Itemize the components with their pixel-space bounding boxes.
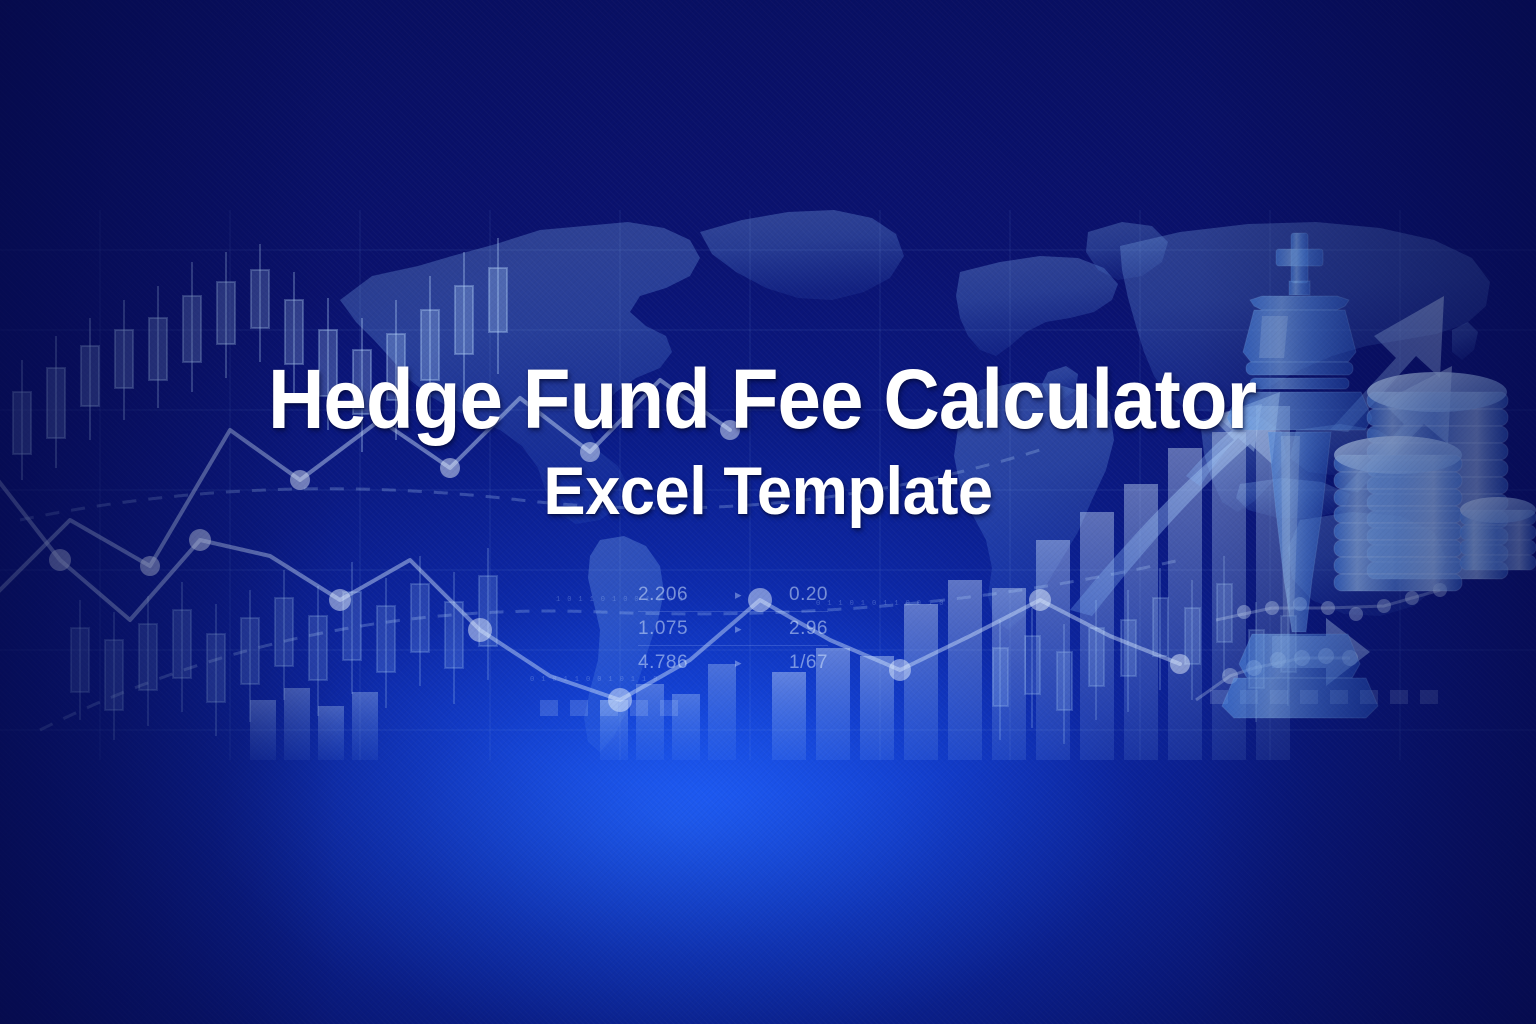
background-vignette <box>0 0 1536 1024</box>
hedge-fund-banner: 0 1 0 1 1 0 0 1 0 1 1 0 1 0 1 1 0 1 0 0 … <box>0 0 1536 1024</box>
